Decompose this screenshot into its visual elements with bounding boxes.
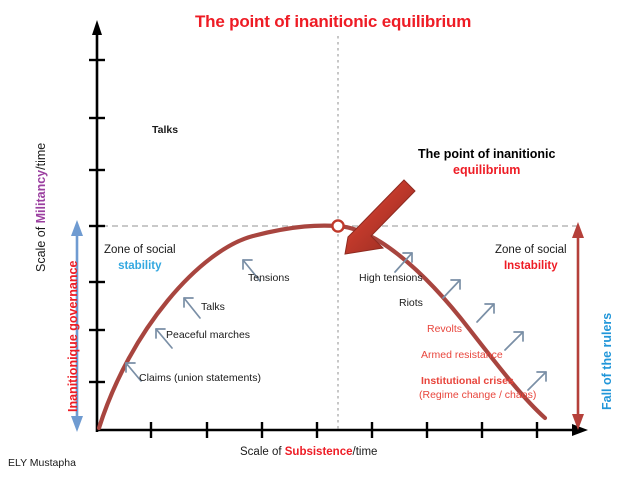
stage-label-high-tensions: High tensions <box>359 272 423 284</box>
zone-stability-line1: Zone of social <box>104 244 176 256</box>
stage-label-talks-top: Talks <box>152 124 178 136</box>
zone-instability-line1: Zone of social <box>495 244 567 256</box>
stage-label-revolts: Revolts <box>427 323 462 335</box>
stage-label-tensions: Tensions <box>248 272 289 284</box>
equilibrium-annotation: The point of inanitionic equilibrium <box>418 146 555 179</box>
x-axis-arrowhead <box>572 424 588 436</box>
x-axis-label-emph: Subsistence <box>285 446 353 458</box>
stage-label-talks: Talks <box>201 301 225 313</box>
y-axis-label-prefix: Scale of <box>34 223 48 272</box>
equilibrium-annotation-line1: The point of inanitionic <box>418 147 555 161</box>
y-axis-label-suffix: /time <box>34 143 48 170</box>
stage-label-riots: Riots <box>399 297 423 309</box>
stage-pointer-arrows-left <box>126 260 260 381</box>
stage-label-institutional-crises-line1: Institutional crises <box>421 375 514 387</box>
author-signature: ELY Mustapha <box>8 457 76 469</box>
zone-instability: Zone of social Instability <box>495 243 567 274</box>
stage-label-regime-change-line1: (Regime change / chaos) <box>419 389 536 401</box>
zone-stability: Zone of social stability <box>104 243 176 274</box>
stage-label-claims: Claims (union statements) <box>139 372 261 384</box>
x-axis-label-suffix: /time <box>353 446 378 458</box>
y-axis-arrowhead <box>92 20 102 35</box>
fall-bracket-arrow <box>572 222 584 430</box>
y-axis-label-emph: Militancy <box>34 170 48 224</box>
figure-canvas: The point of inanitionic equilibrium The… <box>0 0 620 477</box>
stage-label-peaceful-marches: Peaceful marches <box>166 329 250 341</box>
stage-label-armed-resistance: Armed resistance <box>421 349 503 361</box>
equilibrium-point-marker <box>332 220 343 231</box>
diagram-graphics <box>0 0 620 477</box>
zone-stability-line2: stability <box>118 260 161 272</box>
page-title: The point of inanitionic equilibrium <box>195 12 471 32</box>
x-axis-label: Scale of Subsistence/time <box>240 446 377 460</box>
y-axis-label: Scale of Militancy/time <box>34 143 48 272</box>
stage-label-regime-change: (Regime change / chaos) <box>419 389 536 402</box>
governance-bracket-label: Inanitionique governance <box>66 261 80 412</box>
zone-instability-line2: Instability <box>504 260 558 272</box>
equilibrium-annotation-line2: equilibrium <box>453 163 520 177</box>
fall-bracket-label: Fall of the rulers <box>600 313 614 410</box>
stage-label-institutional-crises: Institutional crises <box>421 375 514 388</box>
x-axis-label-prefix: Scale of <box>240 446 285 458</box>
